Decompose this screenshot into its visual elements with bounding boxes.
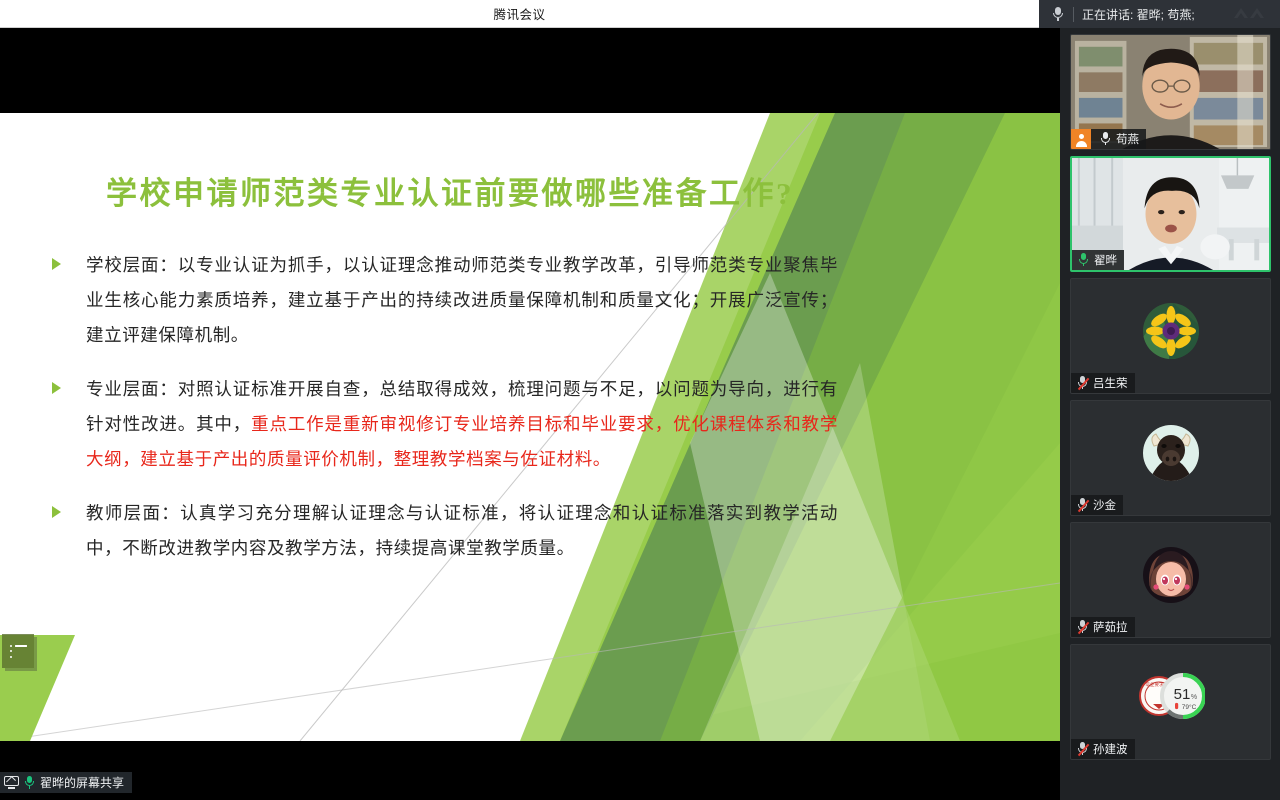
- bullet-text: 教师层面：认真学习充分理解认证理念与认证标准，将认证理念和认证标准落实到教学活动…: [86, 496, 838, 566]
- letterbox-top: [0, 28, 1060, 113]
- participant-label: 萨茹拉: [1071, 617, 1135, 637]
- sunflower-avatar: [1143, 303, 1199, 359]
- bullet-item: 学校层面：以专业认证为抓手，以认证理念推动师范类专业教学改革，引导师范类专业聚焦…: [48, 248, 838, 353]
- participant-tile[interactable]: 翟晔: [1070, 156, 1271, 272]
- participant-tile[interactable]: 毕业要求达成 51 % 79°C 孙建波: [1070, 644, 1271, 760]
- screen-share-label: 翟晔的屏幕共享: [40, 774, 124, 791]
- battery-percent-value: 51: [1173, 686, 1190, 703]
- participant-label: 吕生荣: [1071, 373, 1135, 393]
- slide-title: 学校申请师范类专业认证前要做哪些准备工作?: [60, 168, 840, 213]
- participant-label: 翟晔: [1072, 250, 1124, 270]
- battery-percent-unit: %: [1190, 694, 1196, 701]
- bullet-text: 专业层面：对照认证标准开展自查，总结取得成效，梳理问题与不足，以问题为导向，进行…: [86, 372, 838, 477]
- microphone-on-icon: [1100, 132, 1111, 146]
- microphone-muted-icon: [1077, 498, 1088, 512]
- participant-label: 沙金: [1071, 495, 1123, 515]
- slide-list-button[interactable]: [2, 634, 34, 668]
- participant-tile[interactable]: 萨茹拉: [1070, 522, 1271, 638]
- bull-avatar: [1143, 425, 1199, 481]
- title-bar-left: 腾讯会议: [0, 0, 1039, 28]
- microphone-muted-icon: [1077, 620, 1088, 634]
- participant-tile[interactable]: 苟燕: [1070, 34, 1271, 150]
- screen-share-status-bar: 翟晔的屏幕共享: [0, 772, 132, 793]
- window-title-bar: 腾讯会议 正在讲话: 翟晔; 苟燕;: [0, 0, 1280, 28]
- participant-name: 苟燕: [1116, 131, 1139, 147]
- letterbox-bottom: [0, 741, 1060, 765]
- microphone-icon: [1051, 6, 1065, 22]
- presentation-slide: 学校申请师范类专业认证前要做哪些准备工作? 学校层面：以专业认证为抓手，以认证理…: [0, 113, 1060, 741]
- battery-gauge-avatar: 毕业要求达成 51 % 79°C: [1137, 666, 1205, 726]
- participant-tile[interactable]: 沙金: [1070, 400, 1271, 516]
- participant-label: 苟燕: [1071, 129, 1146, 149]
- app-title: 腾讯会议: [493, 4, 545, 23]
- triangle-bullet-icon: [52, 258, 61, 270]
- shared-screen-area[interactable]: 学校申请师范类专业认证前要做哪些准备工作? 学校层面：以专业认证为抓手，以认证理…: [0, 28, 1060, 800]
- anime-girl-avatar: [1143, 547, 1199, 603]
- speaking-indicator-bar: 正在讲话: 翟晔; 苟燕;: [1039, 0, 1280, 28]
- participant-name: 沙金: [1093, 497, 1116, 513]
- triangle-bullet-icon: [52, 382, 61, 394]
- microphone-active-icon: [24, 776, 35, 790]
- bullet-text: 学校层面：以专业认证为抓手，以认证理念推动师范类专业教学改革，引导师范类专业聚焦…: [86, 248, 838, 353]
- microphone-muted-icon: [1077, 742, 1088, 756]
- participant-label: 孙建波: [1071, 739, 1135, 759]
- participant-name: 吕生荣: [1093, 375, 1128, 391]
- microphone-muted-icon: [1077, 376, 1088, 390]
- slide-bullet-list: 学校层面：以专业认证为抓手，以认证理念推动师范类专业教学改革，引导师范类专业聚焦…: [48, 248, 838, 585]
- tencent-meeting-logo-icon: [1230, 4, 1272, 24]
- participant-name: 孙建波: [1093, 741, 1128, 757]
- screen-share-icon: [4, 776, 19, 789]
- host-person-icon: [1071, 129, 1091, 149]
- speaking-label: 正在讲话: 翟晔; 苟燕;: [1082, 6, 1195, 23]
- participant-name: 翟晔: [1094, 252, 1117, 268]
- triangle-bullet-icon: [52, 506, 61, 518]
- temperature-value: 79°C: [1181, 703, 1196, 711]
- divider: [1073, 7, 1074, 22]
- bullet-item: 教师层面：认真学习充分理解认证理念与认证标准，将认证理念和认证标准落实到教学活动…: [48, 496, 838, 566]
- list-menu-icon: [10, 645, 27, 658]
- participant-name: 萨茹拉: [1093, 619, 1128, 635]
- microphone-speaking-icon: [1078, 253, 1089, 267]
- participant-video-strip[interactable]: 苟燕: [1060, 28, 1280, 800]
- bullet-item: 专业层面：对照认证标准开展自查，总结取得成效，梳理问题与不足，以问题为导向，进行…: [48, 372, 838, 477]
- participant-tile[interactable]: 吕生荣: [1070, 278, 1271, 394]
